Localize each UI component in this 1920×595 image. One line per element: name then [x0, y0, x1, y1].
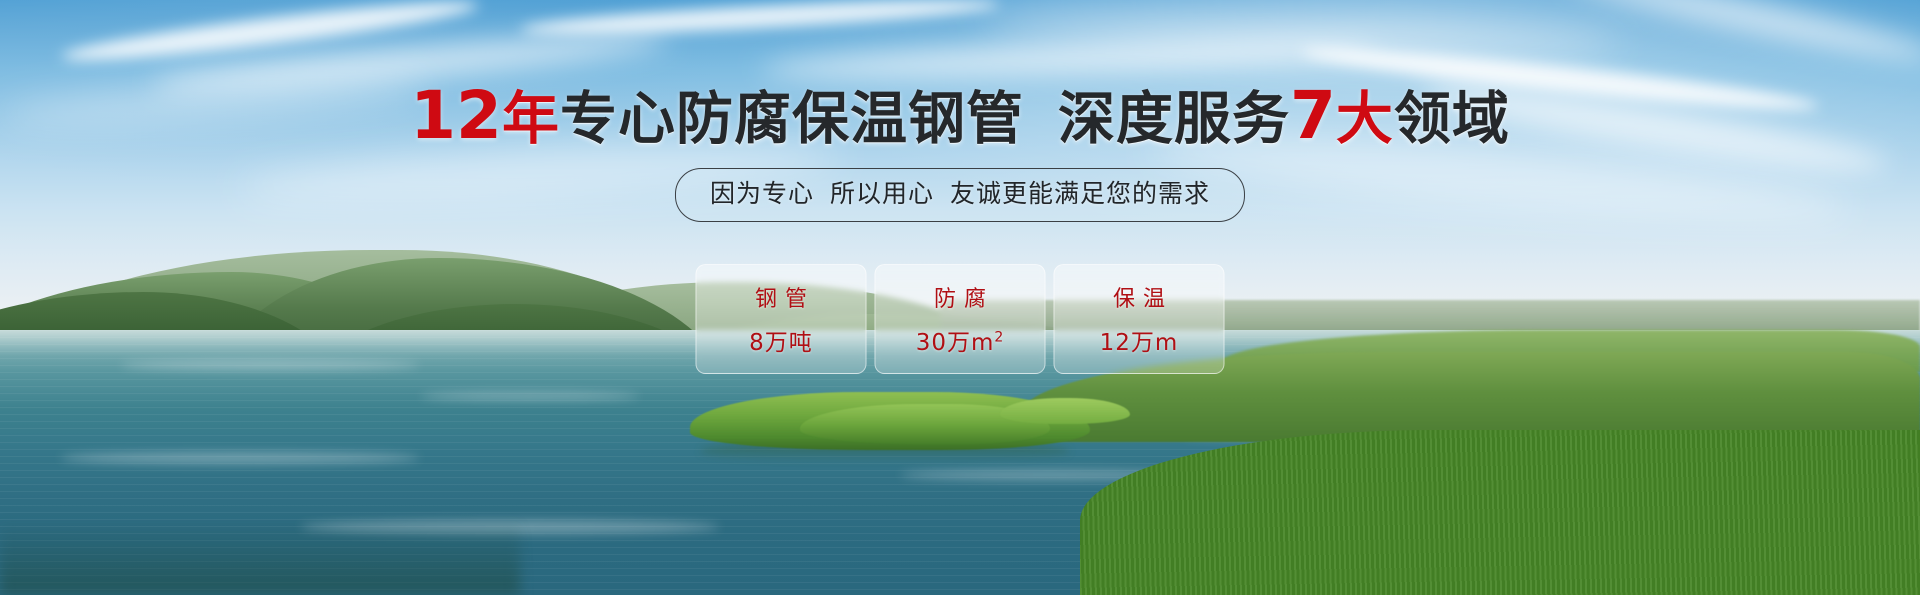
grass-island-tertiary: [1000, 398, 1130, 424]
headline-segment-3: 领域: [1394, 86, 1510, 152]
headline-fields-unit: 大: [1336, 86, 1394, 152]
left-bank-shadow: [0, 520, 520, 595]
stat-value-text: 8万吨: [749, 330, 813, 356]
headline-segment-2: 深度服务: [1058, 86, 1290, 152]
stat-card-group: 钢管 8万吨 防腐 30万m2 保温 12万m: [696, 264, 1225, 374]
stat-value-superscript: 2: [994, 329, 1004, 345]
subtitle-part-1: 因为专心: [710, 179, 814, 208]
subtitle-part-2: 所以用心: [830, 179, 934, 208]
stat-card-steel-pipe: 钢管 8万吨: [696, 264, 867, 374]
headline-years-unit: 年: [502, 86, 560, 152]
stat-value-text: 12万m: [1100, 330, 1179, 356]
subtitle-part-3: 友诚更能满足您的需求: [950, 179, 1210, 208]
hero-banner: 12年专心防腐保温钢管深度服务7大领域 因为专心所以用心友诚更能满足您的需求 钢…: [0, 0, 1920, 595]
stat-card-insulation: 保温 12万m: [1054, 264, 1225, 374]
stat-value: 12万m: [1100, 323, 1179, 357]
subtitle-pill: 因为专心所以用心友诚更能满足您的需求: [675, 168, 1245, 222]
stat-label: 钢管: [747, 281, 815, 313]
headline-fields-number: 7: [1290, 77, 1336, 154]
stat-label: 保温: [1105, 281, 1173, 313]
stat-value-text: 30万m: [916, 330, 995, 356]
headline-segment-1: 专心防腐保温钢管: [560, 86, 1024, 152]
stat-card-anticorrosion: 防腐 30万m2: [875, 264, 1046, 374]
headline-years-number: 12: [410, 77, 502, 154]
stat-label: 防腐: [926, 281, 994, 313]
stat-value: 8万吨: [749, 323, 813, 357]
foreground-grass: [1080, 430, 1920, 595]
stat-value: 30万m2: [916, 323, 1005, 357]
page-title: 12年专心防腐保温钢管深度服务7大领域: [0, 82, 1920, 153]
